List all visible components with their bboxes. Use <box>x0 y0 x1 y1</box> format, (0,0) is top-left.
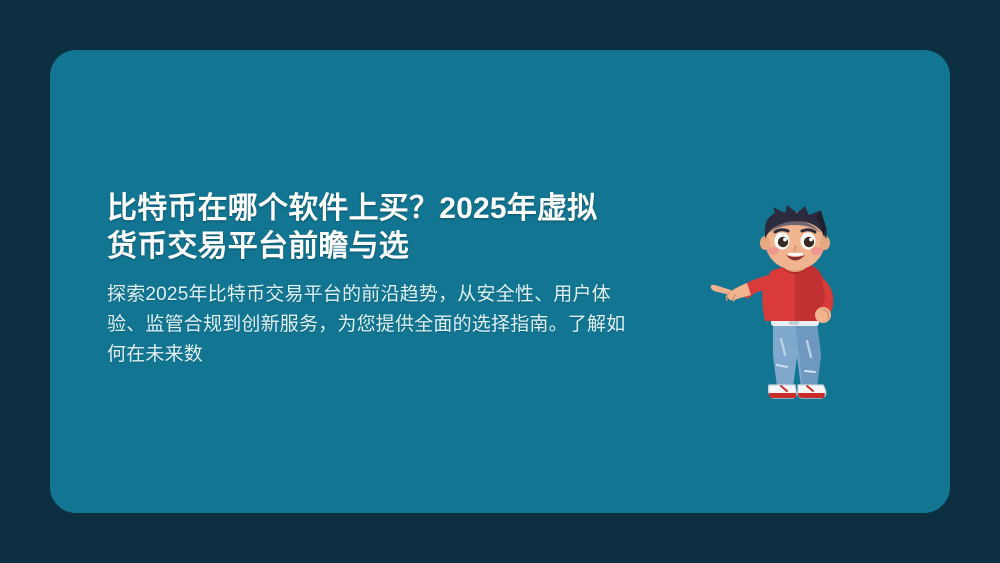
jeans-shape <box>773 323 821 387</box>
page-title: 比特币在哪个软件上买？2025年虚拟货币交易平台前瞻与选 <box>107 190 627 266</box>
page-subtitle: 探索2025年比特币交易平台的前沿趋势，从安全性、用户体验、监管合规到创新服务，… <box>107 280 627 370</box>
slide-canvas: 比特币在哪个软件上买？2025年虚拟货币交易平台前瞻与选 探索2025年比特币交… <box>0 0 1000 563</box>
pointing-boy-character <box>695 205 895 415</box>
content-card: 比特币在哪个软件上买？2025年虚拟货币交易平台前瞻与选 探索2025年比特币交… <box>50 50 950 513</box>
text-block: 比特币在哪个软件上买？2025年虚拟货币交易平台前瞻与选 探索2025年比特币交… <box>107 190 627 370</box>
sneakers-shape <box>769 385 826 398</box>
head-shape <box>760 205 830 270</box>
